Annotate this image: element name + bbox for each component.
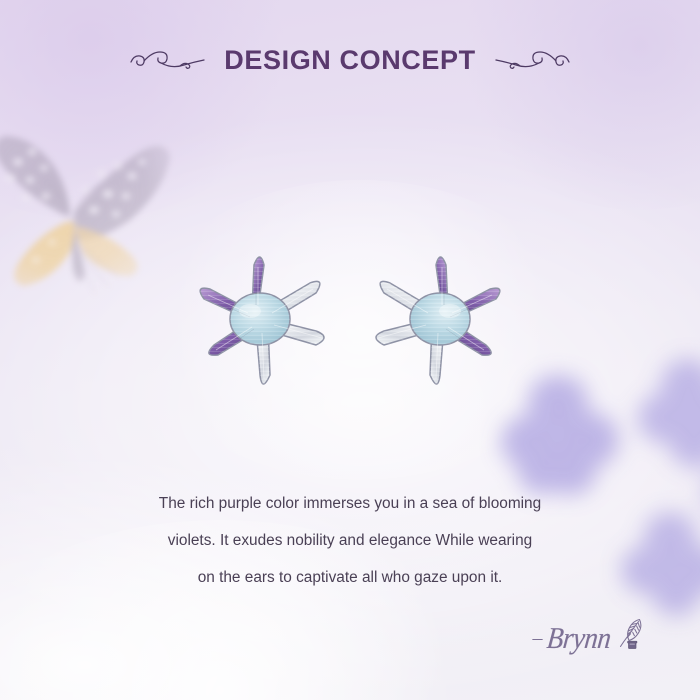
- description-line-2: violets. It exudes nobility and elegance…: [70, 522, 630, 559]
- description-text: The rich purple color immerses you in a …: [70, 485, 630, 596]
- description-line-3: on the ears to captivate all who gaze up…: [70, 559, 630, 596]
- earring-right: [358, 227, 526, 395]
- signature-block: – Brynn: [533, 617, 644, 652]
- flourish-swirl-right-icon: [492, 47, 572, 73]
- page-title: DESIGN CONCEPT: [224, 47, 475, 74]
- design-concept-poster: DESIGN CONCEPT Pair of violet flower stu…: [0, 0, 700, 700]
- background-wash-top-right: [450, 0, 700, 210]
- description-line-1: The rich purple color immerses you in a …: [70, 485, 630, 522]
- product-image-group: Pair of violet flower stud earrings: [0, 216, 700, 406]
- header: DESIGN CONCEPT: [0, 38, 700, 82]
- signature-dash: –: [533, 628, 543, 652]
- product-caption: Pair of violet flower stud earrings: [350, 311, 351, 312]
- background-wash-top-left: [0, 0, 300, 220]
- signature-name: Brynn: [545, 623, 612, 653]
- earring-left: [174, 227, 342, 395]
- flourish-swirl-left-icon: [128, 47, 208, 73]
- quill-pen-icon: [614, 617, 644, 651]
